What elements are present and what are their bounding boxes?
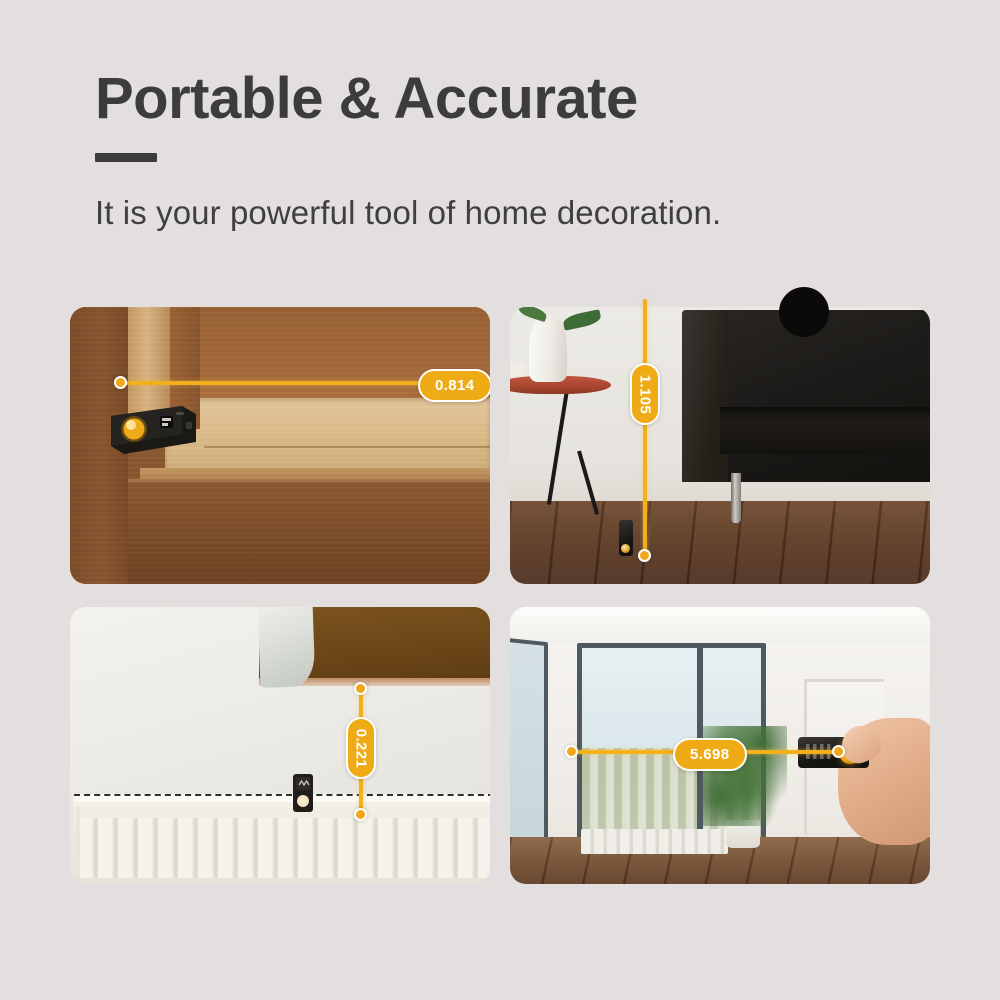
tile-image-bright-room: 5.698 — [510, 607, 930, 884]
radiator-pipe — [76, 806, 80, 878]
laser-measure-device — [292, 773, 314, 813]
sofa-seat-cushion — [720, 407, 930, 454]
ceiling — [510, 607, 930, 643]
title-divider — [95, 153, 157, 162]
gallery-tile-bright-room[interactable]: 5.698 — [510, 607, 930, 884]
gallery-tile-sofa-room[interactable]: 1.105 — [510, 307, 930, 584]
white-vase — [529, 315, 567, 381]
product-poster: Portable & Accurate It is your powerful … — [0, 0, 1000, 1000]
potted-plant — [703, 726, 787, 826]
wood-floor — [510, 501, 930, 584]
device-display — [806, 744, 831, 759]
radiator-fins — [78, 818, 490, 879]
side-window — [510, 638, 548, 858]
peeling-plaster — [258, 607, 315, 688]
gallery-tile-radiator-wall[interactable]: 0.221 — [70, 607, 490, 884]
laser-measure-device — [619, 520, 633, 556]
ceramic-cup — [510, 362, 527, 376]
radiator-top-edge — [74, 794, 490, 802]
page-subtitle: It is your powerful tool of home decorat… — [95, 194, 925, 232]
radiator — [581, 829, 728, 854]
sofa-armrest — [682, 310, 728, 482]
sofa-metal-leg — [731, 473, 741, 523]
tile-image-radiator-wall: 0.221 — [70, 607, 490, 884]
header: Portable & Accurate It is your powerful … — [95, 68, 925, 232]
tile-image-wood-shelf: 0.814 — [70, 307, 490, 584]
page-title: Portable & Accurate — [95, 68, 925, 131]
tile-image-sofa-room — [510, 307, 930, 584]
photo-gallery: 0.814 — [70, 307, 930, 884]
gallery-tile-wood-shelf[interactable]: 0.814 — [70, 307, 490, 584]
laser-measure-device — [108, 402, 198, 458]
